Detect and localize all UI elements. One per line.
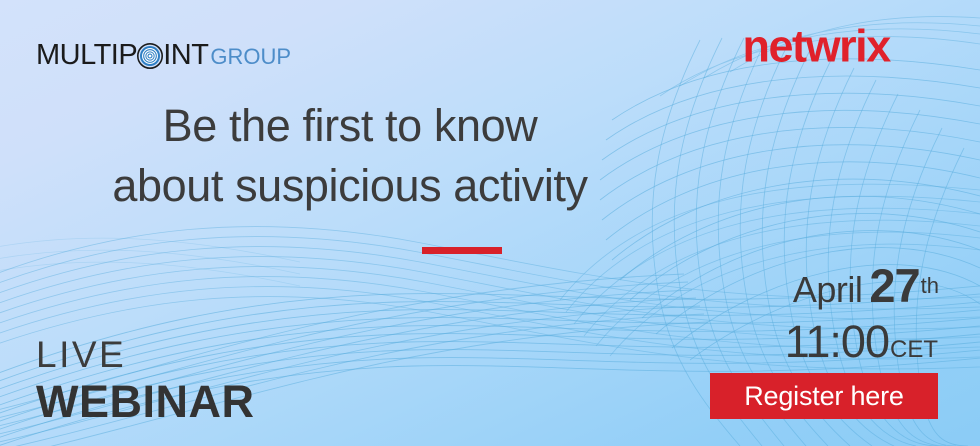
event-time-row: 11:00CET: [785, 319, 938, 364]
event-month: April: [793, 269, 863, 310]
headline: Be the first to know about suspicious ac…: [0, 96, 980, 216]
headline-line-2: about suspicious activity: [0, 156, 700, 216]
webinar-promo-banner: MULTIP INT GROUP netwrix Be the first to…: [0, 0, 980, 446]
register-here-button[interactable]: Register here: [710, 373, 938, 419]
register-button-label: Register here: [744, 381, 903, 412]
event-date-row: April27th: [785, 262, 938, 309]
multipoint-logo-text-part2: INT: [163, 41, 208, 70]
event-day: 27: [869, 259, 919, 312]
event-type-label: LIVE WEBINAR: [36, 336, 254, 424]
event-timezone: CET: [890, 336, 938, 363]
netwrix-logo-text: netwrix: [742, 26, 891, 70]
headline-line-1: Be the first to know: [0, 96, 700, 156]
event-day-ordinal: th: [921, 273, 939, 298]
event-date-time: April27th 11:00CET: [785, 262, 938, 364]
multipoint-logo-text-part1: MULTIP: [36, 41, 137, 70]
event-time: 11:00: [785, 316, 889, 367]
netwrix-logo[interactable]: netwrix: [738, 26, 944, 70]
event-type-live-text: LIVE: [36, 336, 254, 373]
event-type-webinar-text: WEBINAR: [36, 379, 254, 424]
multipoint-group-logo[interactable]: MULTIP INT GROUP: [36, 38, 291, 72]
red-divider-rule: [422, 247, 502, 254]
multipoint-logo-group-text: GROUP: [210, 46, 291, 68]
spiral-target-icon: [137, 43, 163, 69]
